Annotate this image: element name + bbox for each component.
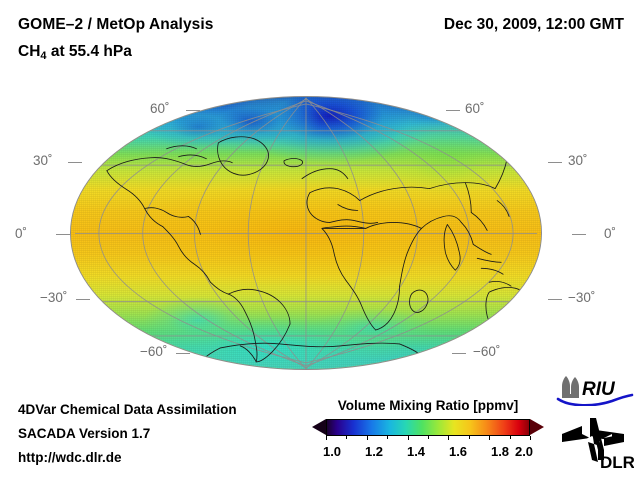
lat-label-right-minus60: −60˚ — [473, 344, 500, 359]
riu-wordmark: RIU — [582, 379, 616, 400]
lat-tick-right-0 — [572, 234, 586, 235]
colorbar-tick-major — [448, 436, 449, 440]
map-vector-overlay — [71, 97, 541, 370]
lat-tick-right-30 — [548, 162, 562, 163]
colorbar-title: Volume Mixing Ratio [ppmv] — [312, 398, 544, 413]
colorbar-scale — [312, 418, 544, 438]
colorbar-label-1: 1.2 — [365, 444, 383, 459]
colorbar-underflow-arrow — [312, 419, 326, 435]
colorbar-tick-minor — [469, 436, 470, 439]
lat-tick-right-60 — [446, 110, 460, 111]
lat-tick-right-minus60 — [452, 353, 466, 354]
colorbar-tick-major — [326, 436, 327, 440]
lat-label-right-minus30: −30˚ — [568, 290, 595, 305]
colorbar-label-4: 1.8 — [491, 444, 509, 459]
footer-method-label: 4DVar Chemical Data Assimilation — [18, 402, 237, 417]
colorbar-tick-minor — [346, 436, 347, 439]
colorbar-label-3: 1.6 — [449, 444, 467, 459]
colorbar-tick-labels: 1.0 1.2 1.4 1.6 1.8 2.0 — [312, 444, 544, 460]
lat-tick-left-minus30 — [76, 299, 90, 300]
dlr-logo: DLR — [560, 416, 634, 472]
colorbar: Volume Mixing Ratio [ppmv] 1.0 1.2 1.4 1… — [312, 398, 544, 460]
colorbar-tick-major — [489, 436, 490, 440]
dlr-wordmark: DLR — [600, 453, 634, 472]
lat-tick-left-0 — [56, 234, 70, 235]
riu-tower-icon — [562, 376, 579, 398]
lat-tick-left-minus60 — [176, 353, 190, 354]
page-title: GOME–2 / MetOp Analysis — [18, 16, 214, 34]
species-subscript: 4 — [40, 50, 46, 62]
lat-label-left-60: 60˚ — [150, 101, 170, 116]
lat-tick-left-30 — [68, 162, 82, 163]
colorbar-overflow-arrow — [530, 419, 544, 435]
global-map — [70, 96, 542, 370]
colorbar-gradient — [326, 419, 530, 436]
colorbar-label-2: 1.4 — [407, 444, 425, 459]
colorbar-tick-major — [530, 436, 531, 440]
lat-label-right-0: 0˚ — [604, 226, 616, 241]
lat-label-left-30: 30˚ — [33, 153, 53, 168]
lat-label-right-30: 30˚ — [568, 153, 588, 168]
timestamp-label: Dec 30, 2009, 12:00 GMT — [444, 16, 624, 34]
lat-label-left-0: 0˚ — [15, 226, 27, 241]
lat-label-left-minus60: −60˚ — [140, 344, 167, 359]
lat-tick-left-60 — [186, 110, 200, 111]
page-subtitle: CH4 at 55.4 hPa — [18, 43, 132, 61]
colorbar-label-max: 2.0 — [515, 444, 533, 459]
footer-version-label: SACADA Version 1.7 — [18, 426, 150, 441]
species-label: CH — [18, 43, 40, 60]
lat-tick-right-minus30 — [548, 299, 562, 300]
coastline-group — [107, 137, 540, 362]
colorbar-label-min: 1.0 — [323, 444, 341, 459]
lat-label-right-60: 60˚ — [465, 101, 485, 116]
colorbar-tick-minor — [387, 436, 388, 439]
riu-logo: RIU — [556, 376, 634, 406]
colorbar-tick-minor — [510, 436, 511, 439]
map-projection-ellipse — [70, 96, 542, 370]
colorbar-tick-major — [367, 436, 368, 440]
colorbar-tick-major — [408, 436, 409, 440]
graticule-group — [75, 97, 537, 369]
colorbar-ticks — [326, 436, 530, 440]
footer-url-link[interactable]: http://wdc.dlr.de — [18, 450, 122, 465]
lat-label-left-minus30: −30˚ — [40, 290, 67, 305]
pressure-level-label: at 55.4 hPa — [47, 43, 132, 60]
colorbar-tick-minor — [428, 436, 429, 439]
